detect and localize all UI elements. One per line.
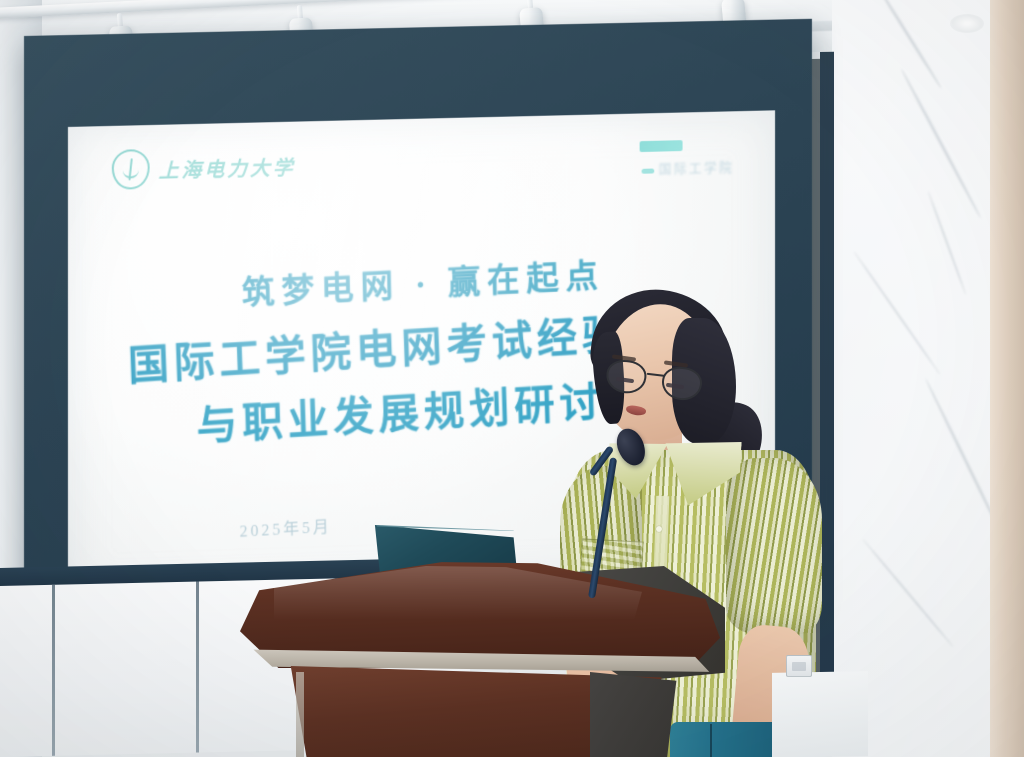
presentation-photo: 上海电力大学 国际工学院 筑梦电网 · 赢在起点 国际工学院电网考试经验分享 与… <box>0 0 1024 757</box>
university-emblem-icon <box>112 149 150 190</box>
slide-university-logo: 上海电力大学 <box>112 145 296 189</box>
wall-outlet-icon[interactable] <box>786 655 812 677</box>
lectern-support <box>296 672 304 757</box>
sleeve-right <box>726 458 822 634</box>
watermark-bar-icon <box>640 140 683 152</box>
wall-right-edge <box>990 0 1024 757</box>
right-lower-wall <box>772 671 868 757</box>
jeans-seam <box>710 724 712 757</box>
slide-watermark: 国际工学院 <box>640 135 735 180</box>
shirt-button <box>656 526 662 532</box>
ceiling-downlight-icon <box>950 14 984 33</box>
university-wordmark: 上海电力大学 <box>159 151 296 183</box>
marble-wall-panel <box>832 0 994 757</box>
watermark-dot-icon <box>642 168 655 173</box>
watermark-text: 国际工学院 <box>659 159 735 176</box>
